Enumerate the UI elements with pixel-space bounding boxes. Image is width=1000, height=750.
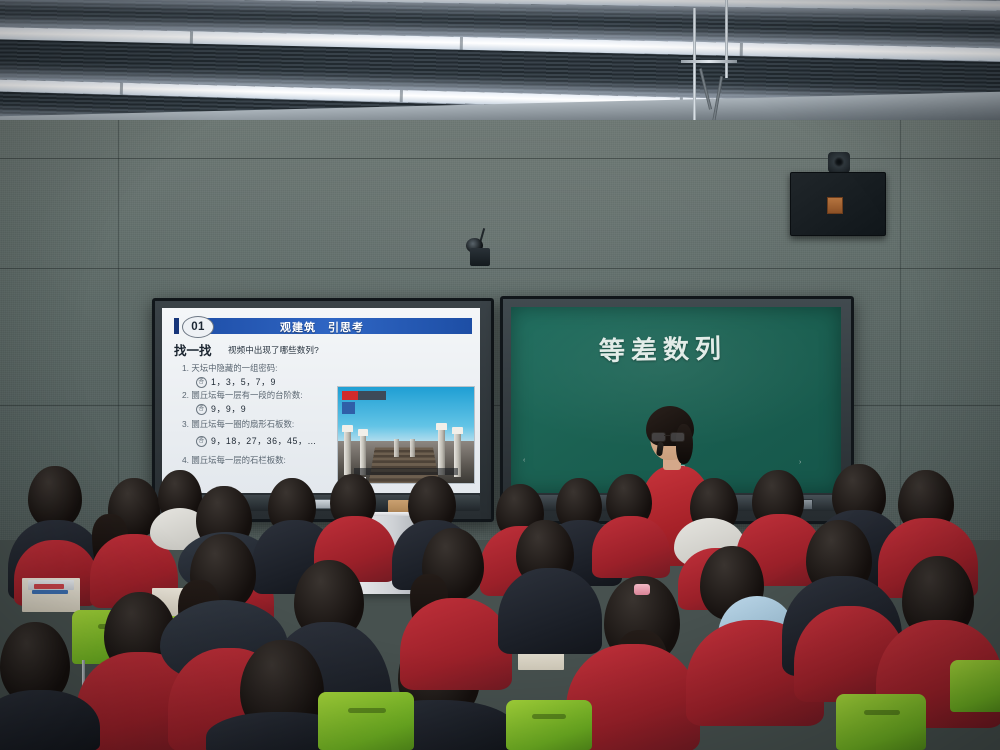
classroom-chair — [836, 694, 926, 750]
slide-header-tick-icon — [174, 318, 179, 334]
student-uniform — [592, 516, 670, 578]
slide-prompt-sub: 视频中出现了哪些数列? — [228, 344, 319, 356]
slide-answer-3: 答9，18，27，36，45，… — [196, 434, 317, 447]
presentation-slide: 01 观建筑 引思考 找一找 视频中出现了哪些数列? 1. 天坛中隐藏的一组密码… — [162, 308, 480, 493]
book — [32, 590, 68, 594]
blackboard-handwriting: 等差数列 — [599, 327, 790, 377]
chevron-right-icon[interactable]: › — [799, 459, 801, 466]
slide-answer-2: 答9，9，9 — [196, 402, 246, 415]
video-badge-secondary — [342, 402, 355, 414]
book — [34, 584, 64, 589]
slide-item-4: 4. 圜丘坛每一层的石栏板数: — [182, 454, 286, 466]
classroom-photo: 01 观建筑 引思考 找一找 视频中出现了哪些数列? 1. 天坛中隐藏的一组密码… — [0, 0, 1000, 750]
video-badge — [342, 391, 386, 400]
video-caption-bar — [354, 468, 458, 475]
slide-item-3: 3. 圜丘坛每一圈的扇形石板数: — [182, 418, 294, 430]
classroom-chair — [950, 660, 1000, 712]
slide-item-1: 1. 天坛中隐藏的一组密码: — [182, 362, 277, 374]
hanging-rod-right — [725, 0, 728, 78]
hair-clip — [634, 584, 650, 595]
display-panel[interactable]: 01 观建筑 引思考 找一找 视频中出现了哪些数列? 1. 天坛中隐藏的一组密码… — [162, 308, 480, 493]
student-body — [498, 568, 602, 654]
student-uniform — [400, 598, 512, 690]
speaker-badge — [827, 197, 843, 214]
student-head — [28, 466, 82, 528]
hanging-rod-left — [693, 8, 696, 128]
classroom-chair — [318, 692, 414, 750]
teacher-hair-side — [676, 424, 693, 464]
speaker-mount-bracket — [828, 152, 850, 173]
slide-prompt: 找一找 — [174, 340, 212, 359]
slide-item-2: 2. 圜丘坛每一层有一段的台阶数: — [182, 389, 303, 401]
chevron-left-icon[interactable]: ‹ — [523, 457, 525, 464]
eyeglasses-icon — [651, 432, 685, 440]
answer-marker-icon: 答 — [196, 377, 207, 388]
slide-header: 01 观建筑 引思考 — [170, 316, 472, 336]
classroom-chair — [506, 700, 592, 750]
wall-camera — [470, 248, 490, 266]
wall-speaker — [790, 172, 886, 236]
answer-marker-icon: 答 — [196, 404, 207, 415]
slide-answer-1: 答1，3，5，7，9 — [196, 375, 276, 388]
slide-title: 观建筑 引思考 — [280, 319, 470, 334]
hanging-rod-crossbar — [681, 60, 737, 63]
slide-number-badge: 01 — [182, 316, 214, 338]
slide-video-thumbnail[interactable] — [337, 386, 475, 484]
answer-marker-icon: 答 — [196, 436, 207, 447]
